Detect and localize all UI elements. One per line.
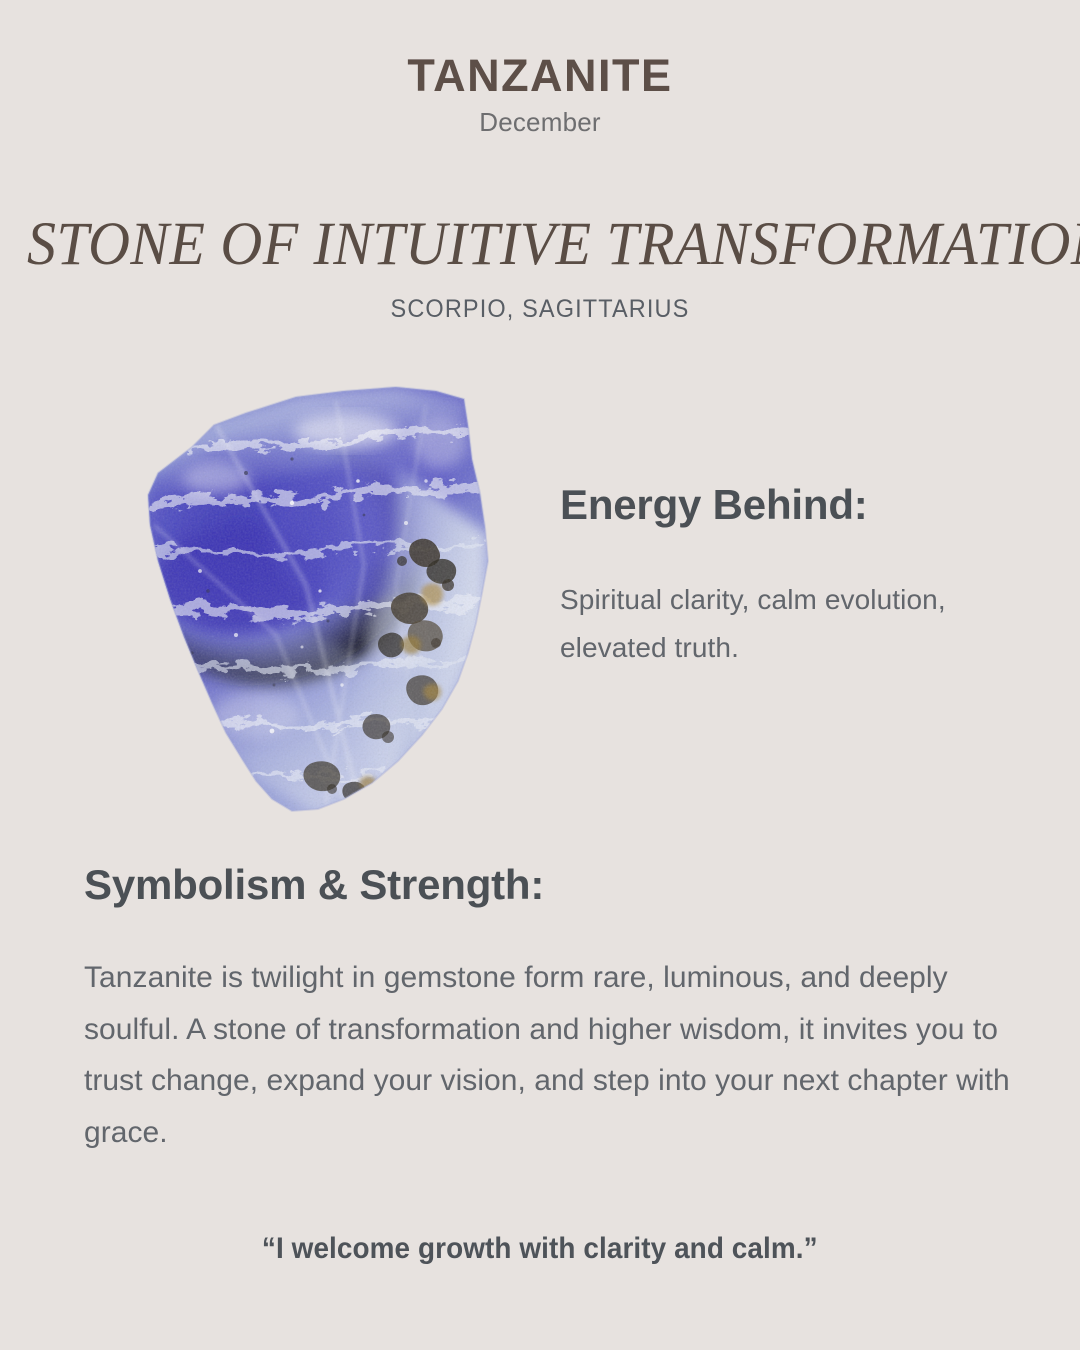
tanzanite-crystal-icon bbox=[96, 385, 506, 835]
birth-month-label: December bbox=[0, 107, 1080, 138]
symbolism-strength-heading: Symbolism & Strength: bbox=[84, 862, 1014, 908]
gemstone-body bbox=[96, 385, 506, 835]
gemstone-image-container bbox=[96, 385, 506, 835]
zodiac-signs-label: SCORPIO, SAGITTARIUS bbox=[32, 295, 1047, 324]
headline-section: STONE OF INTUITIVE TRANSFORMATION SCORPI… bbox=[0, 214, 1080, 324]
card-header: TANZANITE December bbox=[0, 52, 1080, 138]
energy-behind-section: Energy Behind: Spiritual clarity, calm e… bbox=[560, 482, 1020, 701]
energy-behind-heading: Energy Behind: bbox=[560, 482, 1020, 528]
stone-tagline: STONE OF INTUITIVE TRANSFORMATION bbox=[27, 214, 1053, 275]
symbolism-strength-section: Symbolism & Strength: Tanzanite is twili… bbox=[84, 862, 1014, 1189]
page-title: TANZANITE bbox=[0, 52, 1080, 99]
affirmation-section: “I welcome growth with clarity and calm.… bbox=[0, 1232, 1080, 1266]
birthstone-card: TANZANITE December STONE OF INTUITIVE TR… bbox=[0, 0, 1080, 1350]
symbolism-strength-body: Tanzanite is twilight in gemstone form r… bbox=[84, 952, 1014, 1158]
energy-behind-body: Spiritual clarity, calm evolution, eleva… bbox=[560, 576, 1020, 672]
affirmation-quote: “I welcome growth with clarity and calm.… bbox=[262, 1232, 818, 1266]
